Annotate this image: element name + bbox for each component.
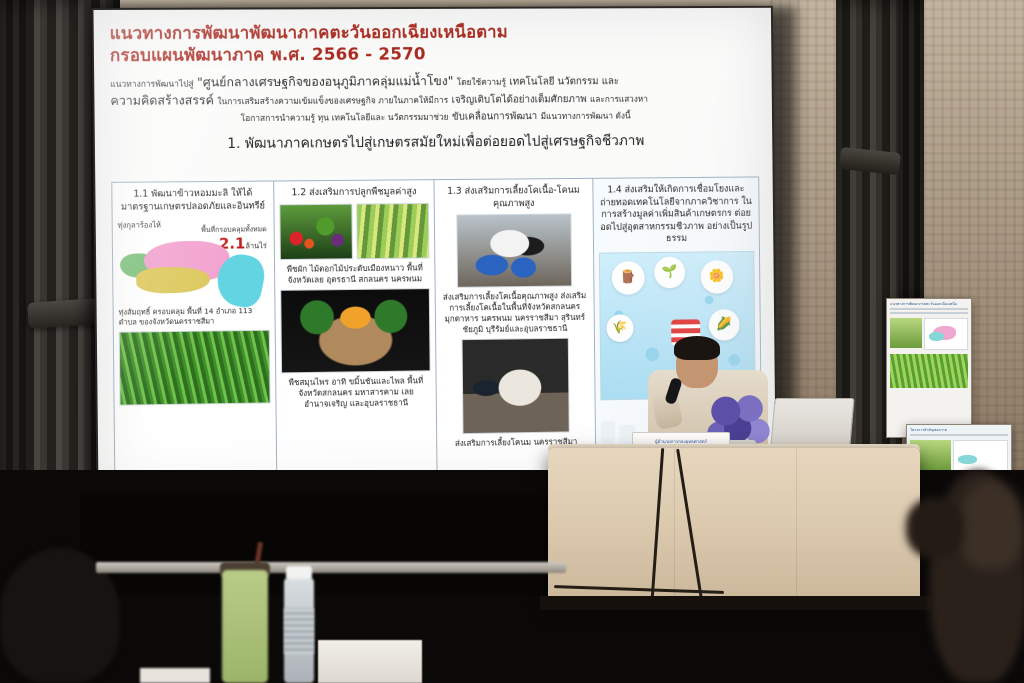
cell-1-4-number: 1.4 (607, 184, 621, 195)
lead-2d: และการแสวงหา (590, 95, 648, 105)
photo-dairy-cow (456, 214, 572, 288)
cell-1-3-caption-1: ส่งเสริมการเลี้ยงโคเนื้อคุณภาพสูง ส่งเสร… (440, 290, 588, 336)
poster-grid (887, 316, 971, 352)
table-cloth-fold (796, 448, 797, 603)
poster-upper-title: แนวทางการพัฒนาภาคตะวันออกเฉียงเหนือ (887, 299, 971, 306)
plant-icon: 🌱 (654, 256, 685, 288)
slide-title-line1: แนวทางการพัฒนาพัฒนาภาคตะวันออกเฉียงเหนือ… (110, 22, 756, 46)
slide-cell-1-2: 1.2 ส่งเสริมการปลูกพืชมูลค่าสูง พืชผัก ไ… (273, 179, 436, 481)
cell-1-3-title: 1.3 ส่งเสริมการเลี้ยงโคเนื้อ-โคนม คุณภาพ… (439, 185, 587, 211)
audience-silhouette (906, 498, 964, 558)
cell-1-2-caption-2: พืชสมุนไพร อาทิ ขมิ้นชันและไพล พื้นที่จั… (281, 375, 431, 410)
lead-1d: เทคโนโลยี นวัตกรรม และ (509, 76, 619, 87)
photo-flower-field (356, 203, 429, 259)
corn-icon: 🌽 (709, 309, 740, 341)
slide-title-line2: กรอบแผนพัฒนาภาค พ.ศ. 2566 - 2570 (110, 43, 756, 68)
skirted-table (548, 448, 920, 603)
lead-2a: ความคิดสร้างสรรค์ (110, 92, 214, 108)
cell-1-2-caption-1: พืชผัก ไม้ดอกไม้ประดับเมืองหนาว พื้นที่จ… (280, 262, 430, 286)
logs-icon: 🪵 (611, 261, 644, 295)
map-area-unit: ล้านไร่ (245, 241, 267, 250)
poster-rule (910, 434, 1008, 436)
photo-herbs (280, 288, 430, 373)
slide-heading-1: 1. พัฒนาภาคเกษตรไปสู่เกษตรสมัยใหม่เพื่อต… (111, 129, 757, 155)
poster-upper: แนวทางการพัฒนาภาคตะวันออกเฉียงเหนือ (886, 298, 972, 438)
cell-1-4-text: ส่งเสริมให้เกิดการเชื่อมโยงและถ่ายทอดเทค… (600, 183, 752, 244)
lead-2c: เจริญเติบโตได้อย่างเต็มศักยภาพ (451, 94, 586, 106)
flowers-icon: 🌼 (700, 260, 733, 294)
conference-room-photo: แนวทางการพัฒนาภาคตะวันออกเฉียงเหนือ โครง… (0, 0, 1024, 683)
cell-1-1-number: 1.1 (133, 189, 148, 200)
green-tumbler (222, 570, 268, 683)
poster-rule (890, 308, 968, 310)
cell-1-1-footnote: ทุ่งสัมฤทธิ์ ครอบคลุม พื้นที่ 14 อำเภอ 1… (119, 306, 270, 327)
stage-riser (540, 596, 930, 610)
map-label-left: ทุ่งกุลาร้องไห้ (118, 219, 161, 231)
white-box-foreground (318, 640, 422, 683)
deco-dot (645, 347, 659, 361)
stage-shadow (80, 495, 560, 595)
lead-3b: ขับเคลื่อนการพัฒนา (452, 111, 537, 122)
lead-1b: "ศูนย์กลางเศรษฐกิจของอนุภูมิภาคลุ่มแม่น้… (197, 73, 453, 89)
bottle-label (284, 608, 314, 654)
cable (676, 449, 703, 600)
cell-1-2-text: ส่งเสริมการปลูกพืชมูลค่าสูง (309, 186, 416, 198)
poster-map-cyan (929, 332, 944, 341)
photo-beef-cattle (462, 338, 570, 434)
wheat-icon: 🌾 (606, 314, 633, 342)
poster-rule (890, 312, 968, 314)
cell-1-1-map-graphic: ทุ่งกุลาร้องไห้ พื้นที่กรอบคลุมทั้งหมด 2… (118, 214, 270, 307)
cable (651, 448, 664, 598)
cell-1-2-number: 1.2 (291, 187, 306, 198)
poster-lower-title: โครงการสำคัญของภาค (907, 425, 1011, 432)
cell-1-2-photo-row (279, 203, 429, 260)
poster-grid (907, 438, 1011, 474)
slide-cell-1-3: 1.3 ส่งเสริมการเลี้ยงโคเนื้อ-โคนม คุณภาพ… (433, 178, 595, 478)
deco-dot (728, 354, 740, 366)
slide-title: แนวทางการพัฒนาพัฒนาภาคตะวันออกเฉียงเหนือ… (110, 22, 757, 68)
cell-1-4-title: 1.4 ส่งเสริมให้เกิดการเชื่อมโยงและถ่ายทอ… (598, 183, 754, 246)
cell-1-3-number: 1.3 (447, 186, 462, 197)
speaker-hair (674, 336, 720, 360)
curtain-far-right (898, 0, 924, 300)
lead-3c: มีแนวทางการพัฒนา ดังนี้ (541, 111, 631, 121)
cell-1-2-title: 1.2 ส่งเสริมการปลูกพืชมูลค่าสูง (291, 186, 416, 200)
lead-2b: ในการเสริมสร้างความเข้มแข็งของเศรษฐกิจ ภ… (217, 96, 448, 107)
cell-1-3-text: ส่งเสริมการเลี้ยงโคเนื้อ-โคนม คุณภาพสูง (465, 185, 580, 209)
table-cloth-fold (674, 448, 675, 603)
photo-rice-field (119, 330, 271, 406)
poster-photo-rice (890, 354, 968, 388)
lead-3a: โอกาสการนำความรู้ ทุน เทคโนโลยีและ นวัตก… (241, 112, 449, 123)
lead-1a: แนวทางการพัฒนาไปสู่ (110, 79, 194, 89)
audience-silhouette (958, 480, 1024, 570)
poster-map-cell (924, 318, 968, 350)
poster-map-cell (953, 440, 1008, 472)
deco-dot (705, 295, 714, 304)
white-object-foreground (140, 668, 210, 683)
table-rail-foreground (96, 562, 566, 573)
poster-photo-cell (890, 318, 922, 348)
poster-map-cyan (958, 455, 977, 464)
lead-1c: โดยใช้ความรู้ (457, 77, 506, 87)
map-region-yellow (136, 267, 210, 294)
cell-1-1-title: 1.1 พัฒนาข้าวหอมมะลิ ให้ได้ มาตรฐานเกษตร… (117, 188, 268, 214)
slide-lead-paragraph: แนวทางการพัฒนาไปสู่ "ศูนย์กลางเศรษฐกิจขอ… (110, 70, 757, 127)
photo-vegetables (279, 203, 353, 259)
slide-cell-1-1: 1.1 พัฒนาข้าวหอมมะลิ ให้ได้ มาตรฐานเกษตร… (111, 181, 276, 484)
